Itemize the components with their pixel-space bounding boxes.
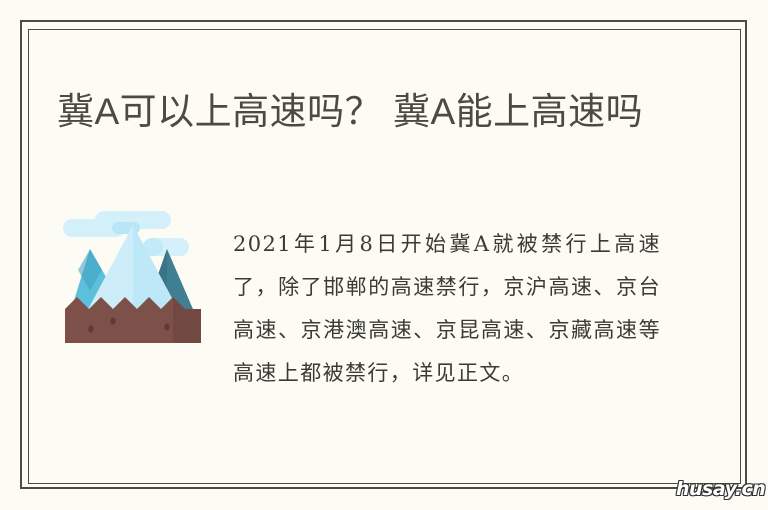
article-content-row: 2021年1月8日开始冀A就被禁行上高速了，除了邯郸的高速禁行，京沪高速、京台高… <box>57 202 657 442</box>
site-watermark: husay.cn <box>676 478 765 500</box>
article-card-page: 冀A可以上高速吗？ 冀A能上高速吗 <box>0 0 768 510</box>
mountain-landscape-icon <box>57 205 209 357</box>
article-summary: 2021年1月8日开始冀A就被禁行上高速了，除了邯郸的高速禁行，京沪高速、京台高… <box>233 223 661 395</box>
page-title: 冀A可以上高速吗？ 冀A能上高速吗 <box>57 85 657 138</box>
